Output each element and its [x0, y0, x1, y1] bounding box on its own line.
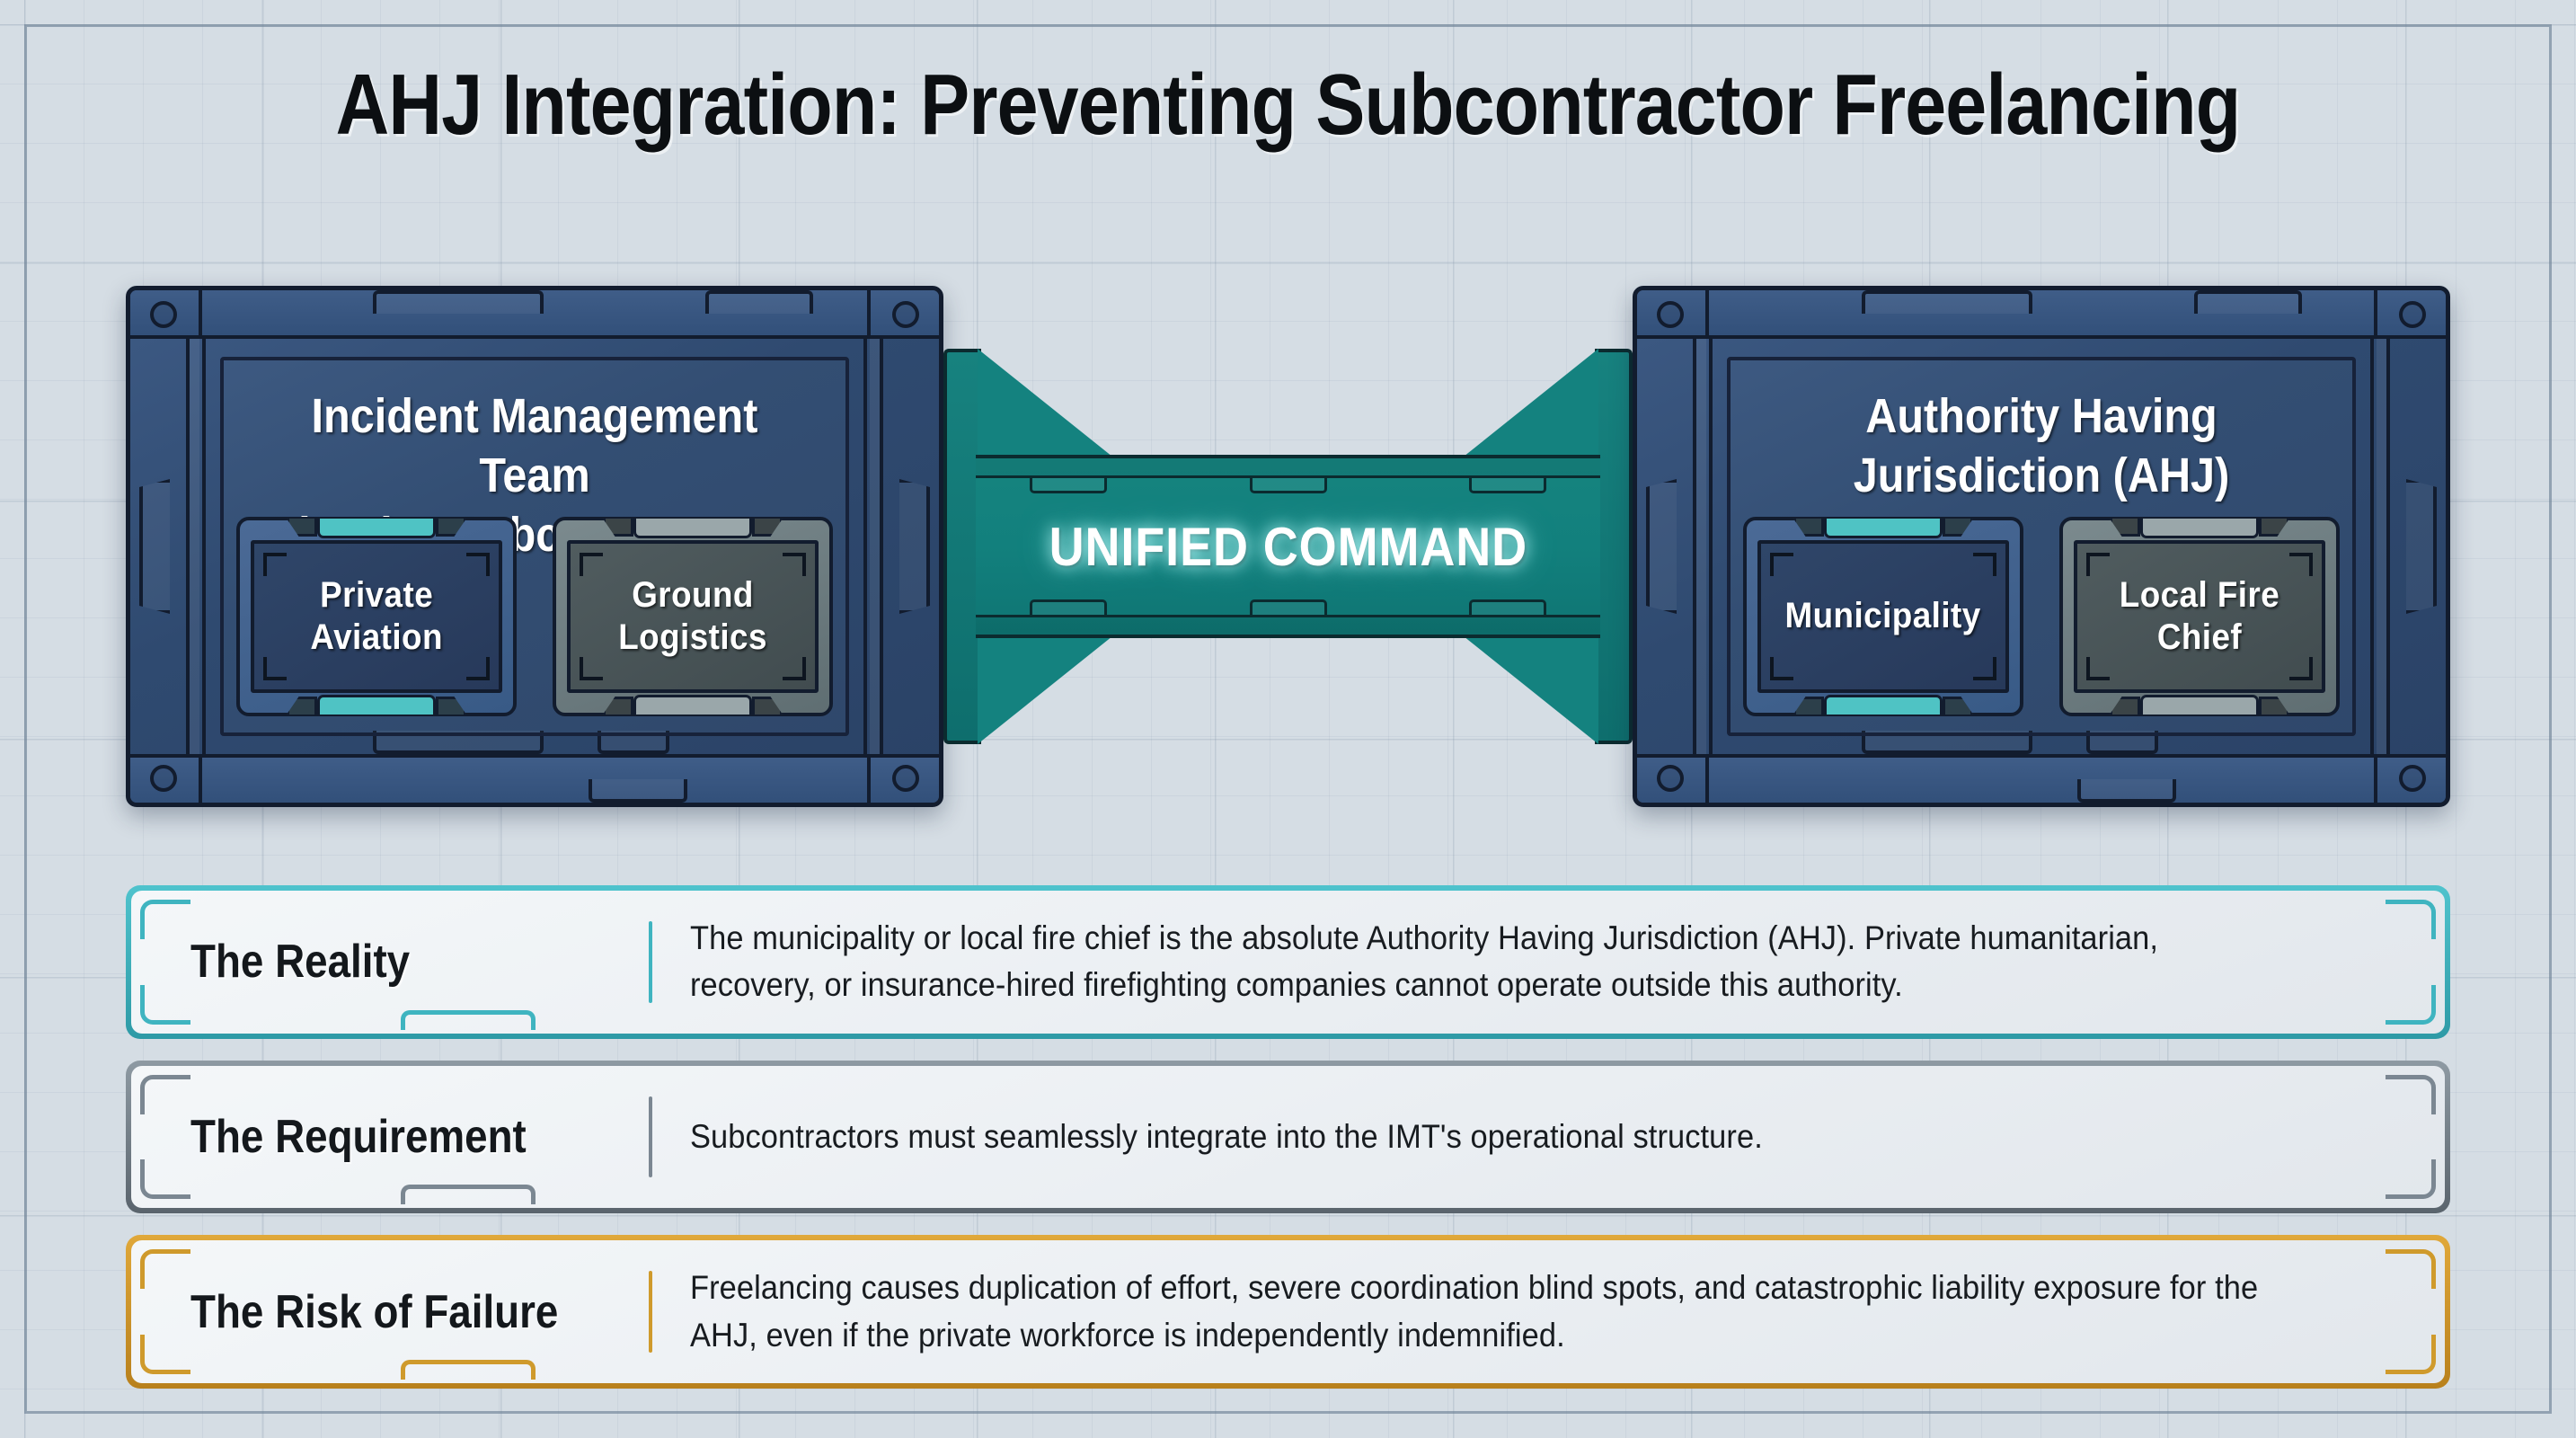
module-screen: Private Aviation — [251, 540, 502, 693]
module-label: Municipality — [1785, 595, 1981, 637]
module-screen: Local Fire Chief — [2074, 540, 2325, 693]
corner-bracket-icon — [466, 657, 490, 680]
infographic-canvas: AHJ Integration: Preventing Subcontracto… — [0, 0, 2576, 1438]
corner-bracket-icon — [466, 553, 490, 576]
bolt-icon — [1657, 301, 1684, 328]
ahj-heading-line1: Authority Having — [1775, 387, 2308, 447]
rail-divider — [2374, 290, 2377, 339]
module-wing — [1943, 697, 1973, 715]
rail-notch — [589, 779, 687, 803]
ahj-heading-line2: Jurisdiction (AHJ) — [1775, 447, 2308, 506]
module-screen: Ground Logistics — [567, 540, 819, 693]
module-wing — [752, 697, 783, 715]
corner-bracket-icon — [2289, 657, 2313, 680]
module-accent-tab-bottom — [1824, 695, 1943, 715]
bolt-icon — [892, 301, 919, 328]
rail-notch — [1862, 290, 2032, 314]
module-label-line2: Aviation — [310, 617, 442, 659]
corner-bracket-icon — [263, 657, 287, 680]
corner-bracket-icon — [783, 657, 806, 680]
corner-bracket-icon — [1973, 657, 1996, 680]
module-municipality[interactable]: Municipality — [1743, 517, 2023, 716]
module-wing — [2110, 697, 2140, 715]
imt-module-group: Private Aviation — [236, 517, 833, 716]
container-post-highlight — [870, 339, 880, 754]
ahj-module-group: Municipality — [1743, 517, 2340, 716]
container-bottom-rail — [1637, 754, 2446, 803]
card-text: The municipality or local fire chief is … — [652, 891, 2445, 1034]
diagram-area: Incident Management Team (IMT) & Subcont… — [126, 286, 2450, 807]
connector-taper — [1464, 349, 1598, 457]
module-wing — [603, 697, 633, 715]
corner-bracket-icon — [2289, 553, 2313, 576]
connector-notch — [1030, 599, 1107, 615]
bolt-icon — [2399, 765, 2426, 792]
container-post-highlight — [2377, 339, 2386, 754]
rail-divider — [199, 754, 202, 803]
card-label: The Risk of Failure — [131, 1240, 649, 1383]
info-card-requirement[interactable]: The Requirement Subcontractors must seam… — [126, 1061, 2450, 1214]
connector-taper — [1464, 636, 1598, 744]
page-title: AHJ Integration: Preventing Subcontracto… — [181, 56, 2396, 155]
container-side-latch — [1646, 479, 1677, 614]
rail-divider — [1705, 754, 1709, 803]
corner-bracket-icon — [2086, 553, 2110, 576]
corner-bracket-icon — [1973, 553, 1996, 576]
module-label-line1: Local Fire — [2120, 574, 2279, 617]
module-wing — [1943, 519, 1973, 537]
container-bottom-rail — [130, 754, 939, 803]
corner-bracket-icon — [580, 657, 603, 680]
connector-notch — [1250, 478, 1327, 493]
container-top-rail — [1637, 290, 2446, 339]
connector-notch — [1250, 599, 1327, 615]
connector-taper — [978, 636, 1112, 744]
card-text: Freelancing causes duplication of effort… — [652, 1240, 2445, 1383]
container-post — [880, 339, 883, 754]
module-wing — [287, 697, 317, 715]
module-accent-tab-top — [317, 519, 436, 538]
imt-heading-line1: Incident Management Team — [268, 387, 801, 506]
rail-divider — [1705, 290, 1709, 339]
module-wing — [436, 519, 466, 537]
rail-divider — [2374, 754, 2377, 803]
module-label-line2: Logistics — [618, 617, 767, 659]
connector-notch — [1030, 478, 1107, 493]
connector-rib — [976, 458, 1600, 478]
container-side-latch — [899, 479, 930, 614]
container-post-highlight — [190, 339, 199, 754]
card-text: Subcontractors must seamlessly integrate… — [652, 1066, 2445, 1209]
info-card-list: The Reality The municipality or local fi… — [126, 885, 2450, 1389]
connector-taper — [978, 349, 1112, 457]
rail-notch — [373, 290, 544, 314]
rail-notch — [705, 290, 813, 314]
module-local-fire-chief[interactable]: Local Fire Chief — [2059, 517, 2340, 716]
module-ground-logistics[interactable]: Ground Logistics — [553, 517, 833, 716]
connector-notch — [1469, 599, 1546, 615]
unified-command-label: UNIFIED COMMAND — [1049, 516, 1527, 578]
imt-container-panel: Incident Management Team (IMT) & Subcont… — [126, 286, 943, 807]
module-label-line1: Private — [310, 574, 442, 617]
module-wing — [2110, 519, 2140, 537]
module-label-line2: Chief — [2120, 617, 2279, 659]
module-accent-tab-bottom — [317, 695, 436, 715]
corner-bracket-icon — [1770, 553, 1793, 576]
info-card-risk-of-failure[interactable]: The Risk of Failure Freelancing causes d… — [126, 1235, 2450, 1389]
rail-notch — [2077, 779, 2176, 803]
container-post — [2370, 339, 2374, 754]
connector-rib — [976, 615, 1600, 635]
corner-bracket-icon — [1770, 657, 1793, 680]
module-wing — [752, 519, 783, 537]
card-body: The Reality The municipality or local fi… — [131, 891, 2445, 1034]
container-post — [863, 339, 867, 754]
module-wing — [2259, 697, 2289, 715]
rail-notch — [2194, 290, 2302, 314]
container-side-latch — [139, 479, 170, 614]
corner-bracket-icon — [263, 553, 287, 576]
connector-notch — [1469, 478, 1546, 493]
container-post-highlight — [1696, 339, 1706, 754]
module-private-aviation[interactable]: Private Aviation — [236, 517, 517, 716]
module-accent-tab-top — [1824, 519, 1943, 538]
module-wing — [603, 519, 633, 537]
container-post — [2386, 339, 2390, 754]
container-side-latch — [2406, 479, 2437, 614]
module-label: Local Fire Chief — [2120, 574, 2279, 659]
module-label: Private Aviation — [310, 574, 442, 659]
module-accent-tab-top — [2140, 519, 2259, 538]
bolt-icon — [2399, 301, 2426, 328]
module-wing — [1793, 519, 1824, 537]
module-wing — [2259, 519, 2289, 537]
unified-command-connector: UNIFIED COMMAND — [943, 349, 1633, 744]
bolt-icon — [150, 301, 177, 328]
card-label: The Requirement — [131, 1066, 649, 1209]
module-accent-tab-bottom — [2140, 695, 2259, 715]
module-label: Ground Logistics — [618, 574, 767, 659]
module-label-line1: Municipality — [1785, 595, 1981, 637]
ahj-container-panel: Authority Having Jurisdiction (AHJ) — [1633, 286, 2450, 807]
module-wing — [287, 519, 317, 537]
module-accent-tab-top — [633, 519, 752, 538]
rail-divider — [867, 754, 871, 803]
connector-beam: UNIFIED COMMAND — [976, 455, 1600, 638]
bolt-icon — [1657, 765, 1684, 792]
module-screen: Municipality — [1757, 540, 2009, 693]
connector-flange-right — [1595, 349, 1633, 744]
card-body: The Risk of Failure Freelancing causes d… — [131, 1240, 2445, 1383]
info-card-reality[interactable]: The Reality The municipality or local fi… — [126, 885, 2450, 1039]
corner-bracket-icon — [580, 553, 603, 576]
rail-divider — [867, 290, 871, 339]
container-post — [1709, 339, 1713, 754]
card-label: The Reality — [131, 891, 649, 1034]
card-body: The Requirement Subcontractors must seam… — [131, 1066, 2445, 1209]
corner-bracket-icon — [2086, 657, 2110, 680]
bolt-icon — [150, 765, 177, 792]
bolt-icon — [892, 765, 919, 792]
corner-bracket-icon — [783, 553, 806, 576]
rail-divider — [199, 290, 202, 339]
ahj-panel-heading: Authority Having Jurisdiction (AHJ) — [1775, 387, 2308, 506]
container-post — [202, 339, 206, 754]
module-label-line1: Ground — [618, 574, 767, 617]
module-wing — [436, 697, 466, 715]
module-wing — [1793, 697, 1824, 715]
module-accent-tab-bottom — [633, 695, 752, 715]
